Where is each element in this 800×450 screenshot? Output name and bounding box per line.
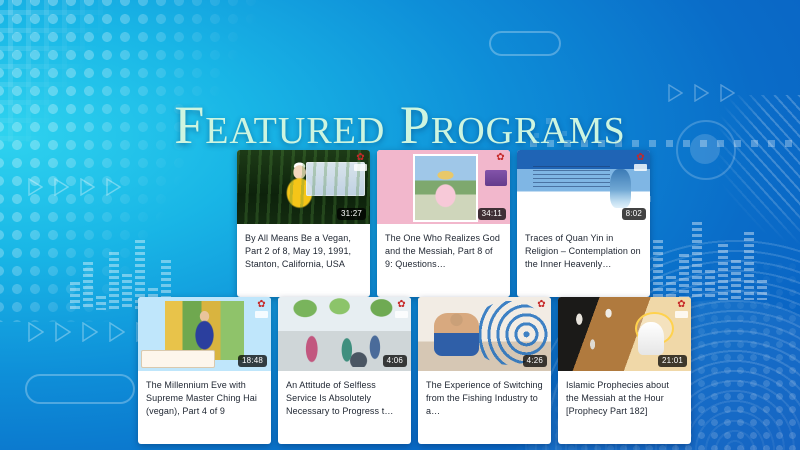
channel-logo-subtitle [395,311,408,318]
pill-outline-top [489,31,561,56]
program-card[interactable]: ✿ 34:11 The One Who Realizes God and the… [377,150,510,297]
channel-logo-icon: ✿ [354,152,367,164]
play-triangle-icon [28,322,43,340]
program-caption: By All Means Be a Vegan, Part 2 of 8, Ma… [237,224,370,297]
channel-logo-icon: ✿ [634,152,647,164]
play-triangle-icon [106,178,121,196]
program-caption: Islamic Prophecies about the Messiah at … [558,371,691,444]
channel-logo-subtitle [255,311,268,318]
program-caption: The Experience of Switching from the Fis… [418,371,551,444]
program-thumbnail[interactable]: ✿ 8:02 [517,150,650,224]
channel-logo-subtitle [354,164,367,171]
program-card[interactable]: ✿ 21:01 Islamic Prophecies about the Mes… [558,297,691,444]
program-card[interactable]: ✿ 4:06 An Attitude of Selfless Service I… [278,297,411,444]
play-triangle-icon [54,178,69,196]
program-thumbnail[interactable]: ✿ 18:48 [138,297,271,371]
program-thumbnail[interactable]: ✿ 31:27 [237,150,370,224]
program-thumbnail[interactable]: ✿ 34:11 [377,150,510,224]
play-triangle-icon [28,178,43,196]
channel-logo-icon: ✿ [675,299,688,311]
featured-row-2: ✿ 18:48 The Millennium Eve with Supreme … [138,297,691,444]
play-triangle-icon [82,322,97,340]
play-triangle-icon [55,322,70,340]
program-caption: The Millennium Eve with Supreme Master C… [138,371,271,444]
channel-logo-icon: ✿ [255,299,268,311]
program-card[interactable]: ✿ 31:27 By All Means Be a Vegan, Part 2 … [237,150,370,297]
channel-logo-subtitle [675,311,688,318]
duration-badge: 34:11 [478,208,506,220]
duration-badge: 31:27 [337,208,366,220]
duration-badge: 4:06 [383,355,407,367]
channel-logo-icon: ✿ [395,299,408,311]
duration-badge: 8:02 [622,208,646,220]
program-caption: Traces of Quan Yin in Religion – Contemp… [517,224,650,297]
page-title: Featured Programs [0,98,800,152]
duration-badge: 4:26 [523,355,547,367]
program-card[interactable]: ✿ 18:48 The Millennium Eve with Supreme … [138,297,271,444]
program-thumbnail[interactable]: ✿ 4:26 [418,297,551,371]
duration-badge: 18:48 [238,355,267,367]
program-caption: The One Who Realizes God and the Messiah… [377,224,510,297]
program-card[interactable]: ✿ 4:26 The Experience of Switching from … [418,297,551,444]
program-card[interactable]: ✿ 8:02 Traces of Quan Yin in Religion – … [517,150,650,297]
program-caption: An Attitude of Selfless Service Is Absol… [278,371,411,444]
channel-logo-icon: ✿ [535,299,548,311]
pill-outline-bottom-left [25,374,135,404]
play-triangle-icon [109,322,124,340]
channel-logo-icon: ✿ [494,152,507,164]
play-triangle-icon [80,178,95,196]
program-thumbnail[interactable]: ✿ 21:01 [558,297,691,371]
equalizer-bars-right [640,215,767,300]
play-triangle-row-top-left [28,178,121,196]
channel-logo-subtitle [634,164,647,171]
duration-badge: 21:01 [658,355,687,367]
program-thumbnail[interactable]: ✿ 4:06 [278,297,411,371]
featured-programs-screen: Featured Programs ✿ 31:27 By All Means B… [0,0,800,450]
featured-row-1: ✿ 31:27 By All Means Be a Vegan, Part 2 … [237,150,650,297]
